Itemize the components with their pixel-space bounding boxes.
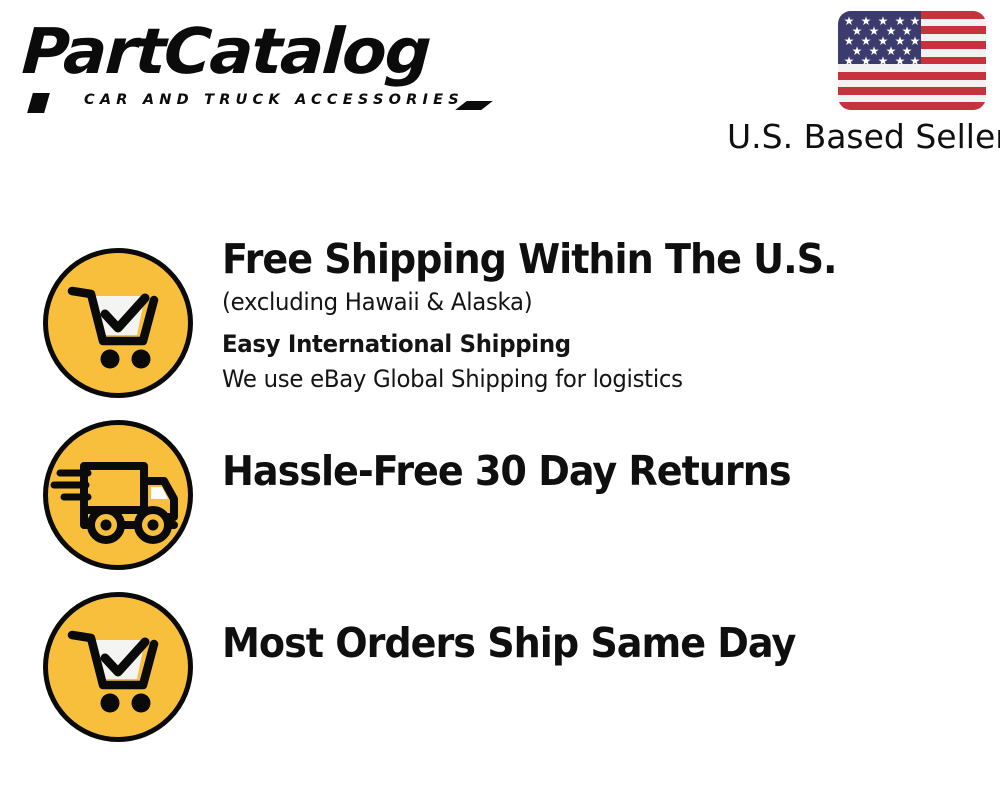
us-based-seller-label: U.S. Based Seller <box>727 118 989 156</box>
feature-text: Hassle-Free 30 Day Returns <box>222 446 990 496</box>
feature-title: Hassle-Free 30 Day Returns <box>222 446 936 496</box>
feature-text: Most Orders Ship Same Day <box>222 618 990 668</box>
feature-text: Free Shipping Within The U.S. (excluding… <box>222 234 990 396</box>
feature-subtitle-bold: Easy International Shipping <box>222 327 952 361</box>
delivery-truck-icon <box>43 420 193 570</box>
brand-tagline: CAR AND TRUCK ACCESSORIES <box>84 92 464 108</box>
feature-title: Most Orders Ship Same Day <box>222 618 936 668</box>
feature-exclusion-note: (excluding Hawaii & Alaska) <box>222 285 952 319</box>
shopping-cart-check-icon <box>43 248 193 398</box>
flag-canton: ★ ★ ★ ★ ★ ★ ★ ★ ★ ★ ★ ★ ★ ★ ★ ★ ★ ★ ★ ★ … <box>838 11 921 64</box>
united-states-flag-icon: ★ ★ ★ ★ ★ ★ ★ ★ ★ ★ ★ ★ ★ ★ ★ ★ ★ ★ ★ ★ … <box>838 11 986 110</box>
feature-row: Most Orders Ship Same Day <box>0 586 1000 758</box>
brand-logo: PartCatalog CAR AND TRUCK ACCESSORIES <box>24 18 494 118</box>
feature-row: Free Shipping Within The U.S. (excluding… <box>0 234 1000 414</box>
brand-wordmark: PartCatalog <box>20 18 508 86</box>
shopping-cart-check-icon <box>43 592 193 742</box>
logo-slash-left-icon <box>27 93 50 113</box>
feature-subtitle-detail: We use eBay Global Shipping for logistic… <box>222 362 952 396</box>
shipping-info-banner: PartCatalog CAR AND TRUCK ACCESSORIES ★ … <box>0 0 1000 800</box>
feature-title: Free Shipping Within The U.S. <box>222 234 936 284</box>
brand-tagline-row: CAR AND TRUCK ACCESSORIES <box>26 92 496 116</box>
feature-row: Hassle-Free 30 Day Returns <box>0 414 1000 586</box>
